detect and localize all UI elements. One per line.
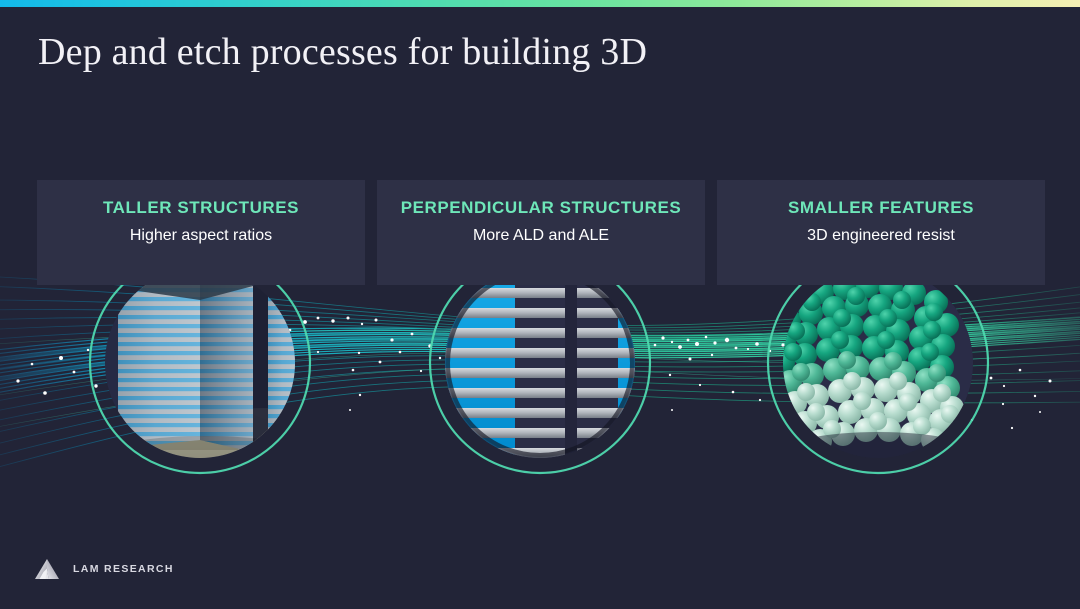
card-title: PERPENDICULAR STRUCTURES bbox=[377, 197, 705, 219]
card-smaller-features: SMALLER FEATURES 3D engineered resist bbox=[717, 180, 1045, 285]
circle-smaller-features bbox=[768, 253, 988, 473]
card-subtitle: More ALD and ALE bbox=[377, 226, 705, 246]
card-taller-structures: TALLER STRUCTURES Higher aspect ratios bbox=[37, 180, 365, 285]
gradient-accent-bar bbox=[0, 0, 1080, 7]
card-perpendicular-structures: PERPENDICULAR STRUCTURES More ALD and AL… bbox=[377, 180, 705, 285]
lam-research-triangle-icon bbox=[34, 558, 60, 580]
card-subtitle: Higher aspect ratios bbox=[37, 226, 365, 246]
circle-taller-structures bbox=[90, 253, 310, 473]
circle-perpendicular-structures bbox=[430, 253, 650, 473]
brand-logo: LAM RESEARCH bbox=[34, 558, 174, 580]
illustration-circles-layer bbox=[0, 0, 1080, 609]
card-title: SMALLER FEATURES bbox=[717, 197, 1045, 219]
card-title: TALLER STRUCTURES bbox=[37, 197, 365, 219]
logo-wordmark: LAM RESEARCH bbox=[73, 563, 174, 575]
slide-title: Dep and etch processes for building 3D bbox=[38, 30, 938, 74]
slide-canvas: TALLER STRUCTURES Higher aspect ratios P… bbox=[0, 0, 1080, 609]
card-subtitle: 3D engineered resist bbox=[717, 226, 1045, 246]
